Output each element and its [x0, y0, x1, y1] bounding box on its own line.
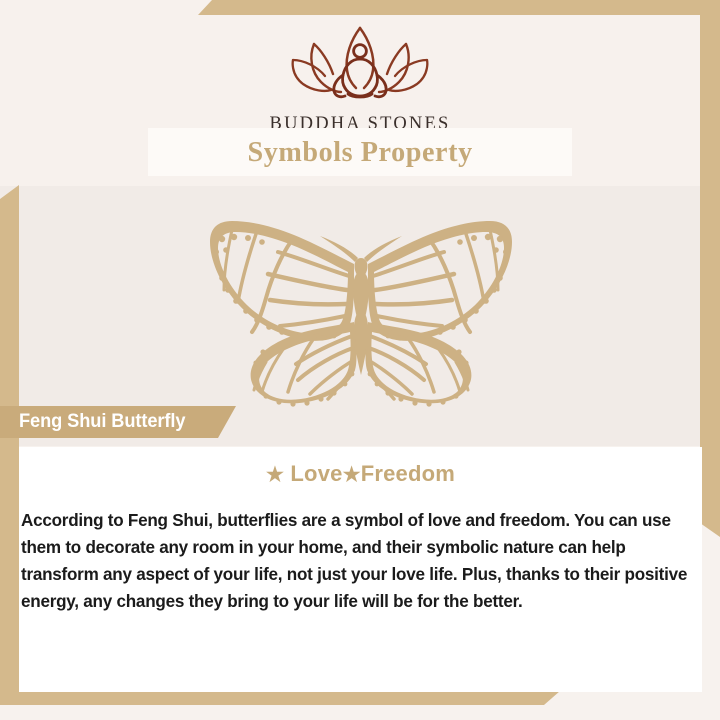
description-card: ★ Love★Freedom According to Feng Shui, b… [19, 447, 702, 692]
feature-banner-label: Feng Shui Butterfly [19, 411, 185, 433]
tagline: ★ Love★Freedom [19, 461, 702, 487]
butterfly-icon [196, 212, 526, 408]
star-icon: ★ [343, 464, 361, 486]
tagline-freedom: Freedom [361, 461, 455, 486]
top-accent-bar [198, 0, 720, 15]
product-infographic-page: BUDDHA STONES Symbols Property [0, 0, 720, 720]
page-title: Symbols Property [247, 136, 472, 169]
left-accent-bar [0, 185, 19, 705]
feature-banner: Feng Shui Butterfly [0, 406, 236, 438]
tagline-love: Love [290, 461, 342, 486]
bottom-accent-bar [0, 691, 560, 705]
description-paragraph: According to Feng Shui, butterflies are … [21, 507, 697, 615]
lotus-meditation-figure-icon [287, 26, 433, 110]
star-icon: ★ [266, 464, 284, 486]
butterfly-illustration [196, 212, 526, 408]
brand-logo: BUDDHA STONES [0, 26, 720, 135]
section-title-band: Symbols Property [148, 128, 572, 176]
